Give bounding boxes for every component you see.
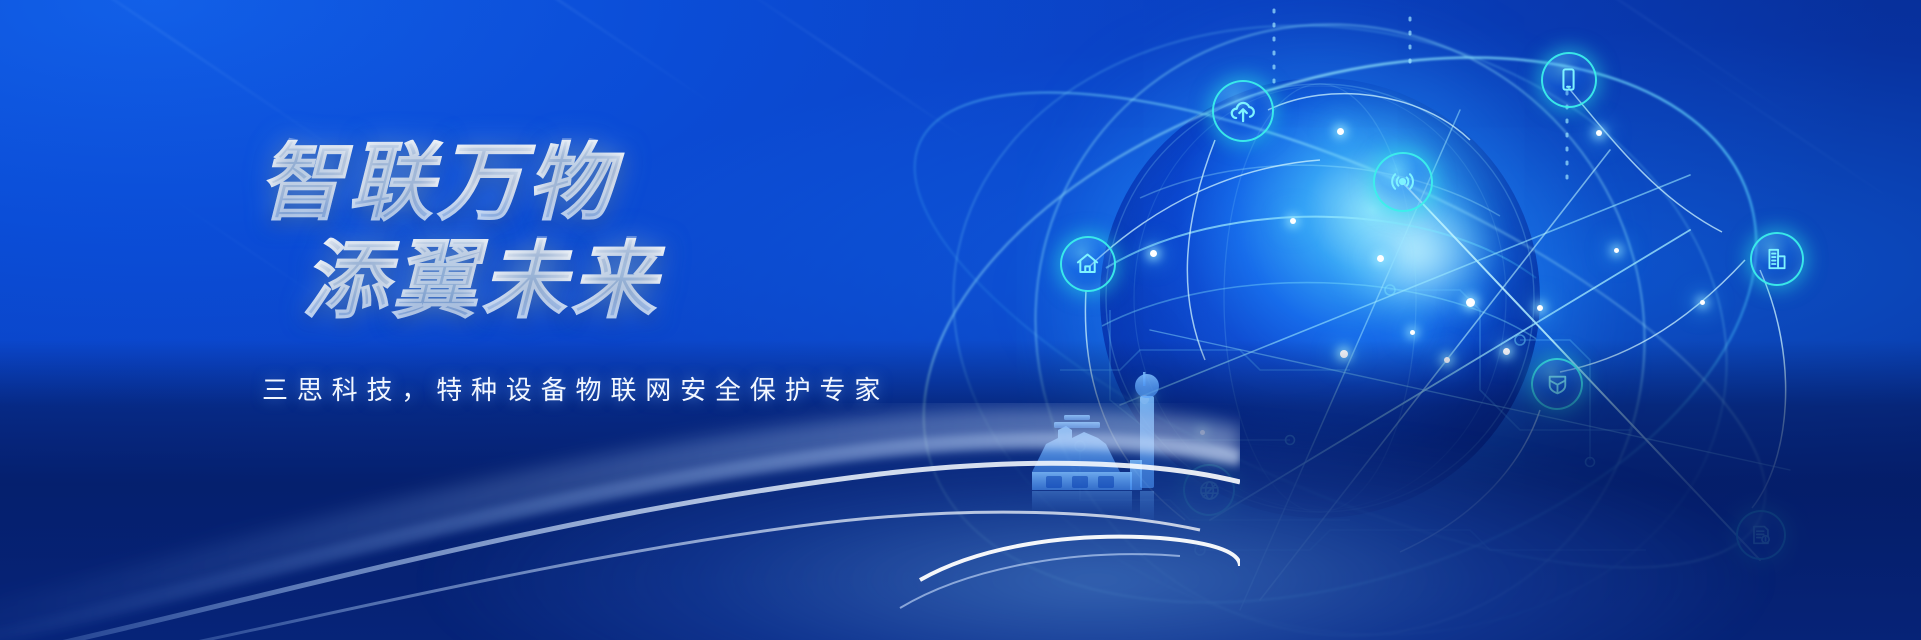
node-document-report[interactable] <box>1736 510 1786 560</box>
headline-line-2: 添翼未来 <box>302 238 1010 324</box>
globe-network-icon <box>1197 478 1222 503</box>
hero-banner: 智联万物 添翼未来 三思科技，特种设备物联网安全保护专家 <box>0 0 1921 640</box>
shield-icon <box>1545 372 1570 397</box>
headline-line-1: 智联万物 <box>258 140 1010 226</box>
building-icon <box>1764 246 1790 272</box>
home-icon <box>1074 250 1101 277</box>
wifi-signal-icon <box>1388 167 1417 196</box>
node-cloud-upload[interactable] <box>1212 80 1274 142</box>
node-globe-network[interactable] <box>1183 464 1235 516</box>
node-wifi-signal[interactable] <box>1373 152 1433 212</box>
node-building[interactable] <box>1750 232 1804 286</box>
cloud-upload-icon <box>1228 96 1258 126</box>
mobile-phone-icon <box>1555 66 1582 93</box>
document-report-icon <box>1749 523 1773 547</box>
node-shield[interactable] <box>1531 358 1583 410</box>
hero-copy: 智联万物 添翼未来 三思科技，特种设备物联网安全保护专家 <box>250 140 1010 407</box>
hero-subtitle: 三思科技，特种设备物联网安全保护专家 <box>262 370 1010 407</box>
node-mobile-phone[interactable] <box>1541 52 1597 108</box>
node-home[interactable] <box>1060 236 1116 292</box>
